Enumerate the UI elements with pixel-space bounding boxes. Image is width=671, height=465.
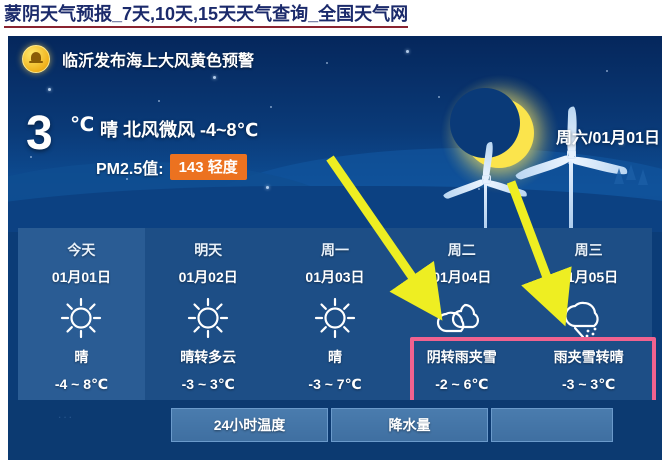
forecast-day-today[interactable]: 今天 01月01日 晴 -	[18, 228, 145, 400]
star-icon	[406, 50, 409, 53]
tree-icon	[614, 168, 624, 184]
forecast-day-name: 明天	[194, 240, 222, 260]
current-conditions-text: 晴 北风微风 -4~8℃	[100, 116, 258, 142]
crescent-moon-icon	[464, 98, 534, 168]
forecast-day-monday[interactable]: 周一 01月03日 晴 -	[272, 228, 399, 400]
forecast-day-tuesday[interactable]: 周二 01月04日 阴转雨夹雪 -2 ~ 6℃	[398, 228, 525, 400]
tree-icon	[638, 169, 648, 185]
forecast-day-temp: -2 ~ 6℃	[435, 376, 488, 393]
pm25-badge: 143 轻度	[170, 154, 247, 180]
moon-shadow	[450, 88, 520, 158]
temperature-unit: ℃	[70, 112, 94, 137]
forecast-day-temp: -3 ~ 3℃	[182, 376, 235, 393]
forecast-day-date: 01月01日	[52, 267, 111, 287]
bottom-toolbar: ... 24小时温度 降水量	[8, 400, 662, 460]
star-icon	[270, 106, 272, 108]
current-date: 周六/01月01日	[556, 124, 660, 148]
alert-text: 临沂发布海上大风黄色预警	[62, 47, 254, 71]
sun-icon	[185, 293, 231, 343]
cloudy-icon	[435, 293, 489, 343]
forecast-day-date: 01月02日	[179, 267, 238, 287]
toolbar-button-row: 24小时温度 降水量	[171, 408, 616, 442]
forecast-day-name: 周三	[575, 240, 603, 260]
forecast-day-date: 01月03日	[305, 267, 364, 287]
star-icon	[606, 70, 608, 72]
precipitation-button[interactable]: 降水量	[331, 408, 488, 442]
star-icon	[266, 186, 269, 189]
sun-icon	[58, 293, 104, 343]
empty-toolbar-button[interactable]	[491, 408, 613, 442]
forecast-strip: 今天 01月01日 晴 -	[18, 228, 652, 400]
warning-bell-icon	[22, 45, 50, 73]
forecast-day-desc: 晴转多云	[180, 347, 236, 367]
pm25-row: PM2.5值: 143 轻度	[96, 154, 247, 180]
alert-banner[interactable]: 临沂发布海上大风黄色预警	[22, 45, 254, 73]
star-icon	[48, 88, 51, 91]
forecast-day-tomorrow[interactable]: 明天 01月02日 晴转多云	[145, 228, 272, 400]
forecast-day-name: 今天	[67, 240, 95, 260]
star-icon	[438, 96, 440, 98]
forecast-day-wednesday[interactable]: 周三 01月05日 雨夹雪转晴 -3 ~ 3℃	[525, 228, 652, 400]
star-icon	[326, 62, 328, 64]
weather-widget: 临沂发布海上大风黄色预警 3 ℃ 晴 北风微风 -4~8℃ PM2.5值: 14…	[8, 36, 662, 460]
forecast-day-desc: 晴	[328, 347, 342, 367]
forecast-day-name: 周一	[321, 240, 349, 260]
page-title-text: 蒙阴天气预报_7天,10天,15天天气查询_全国天气网	[4, 4, 408, 24]
forecast-day-temp: -3 ~ 3℃	[562, 376, 615, 393]
sleet-icon	[562, 293, 616, 343]
tree-icon	[626, 164, 636, 180]
forecast-day-name: 周二	[448, 240, 476, 260]
faint-watermark-text: ...	[58, 402, 148, 426]
star-icon	[158, 100, 160, 102]
star-icon	[213, 76, 216, 79]
forecast-day-desc: 阴转雨夹雪	[427, 347, 497, 367]
page-title: 蒙阴天气预报_7天,10天,15天天气查询_全国天气网	[4, 3, 408, 28]
forecast-day-desc: 雨夹雪转晴	[554, 347, 624, 367]
current-temperature: 3	[26, 110, 53, 158]
forecast-day-date: 01月04日	[432, 267, 491, 287]
pm25-label: PM2.5值:	[96, 155, 164, 179]
sun-icon	[312, 293, 358, 343]
forecast-day-desc: 晴	[74, 347, 88, 367]
forecast-day-date: 01月05日	[559, 267, 618, 287]
hourly-temperature-button[interactable]: 24小时温度	[171, 408, 328, 442]
forecast-day-temp: -3 ~ 7℃	[308, 376, 361, 393]
forecast-day-temp: -4 ~ 8℃	[55, 376, 108, 393]
